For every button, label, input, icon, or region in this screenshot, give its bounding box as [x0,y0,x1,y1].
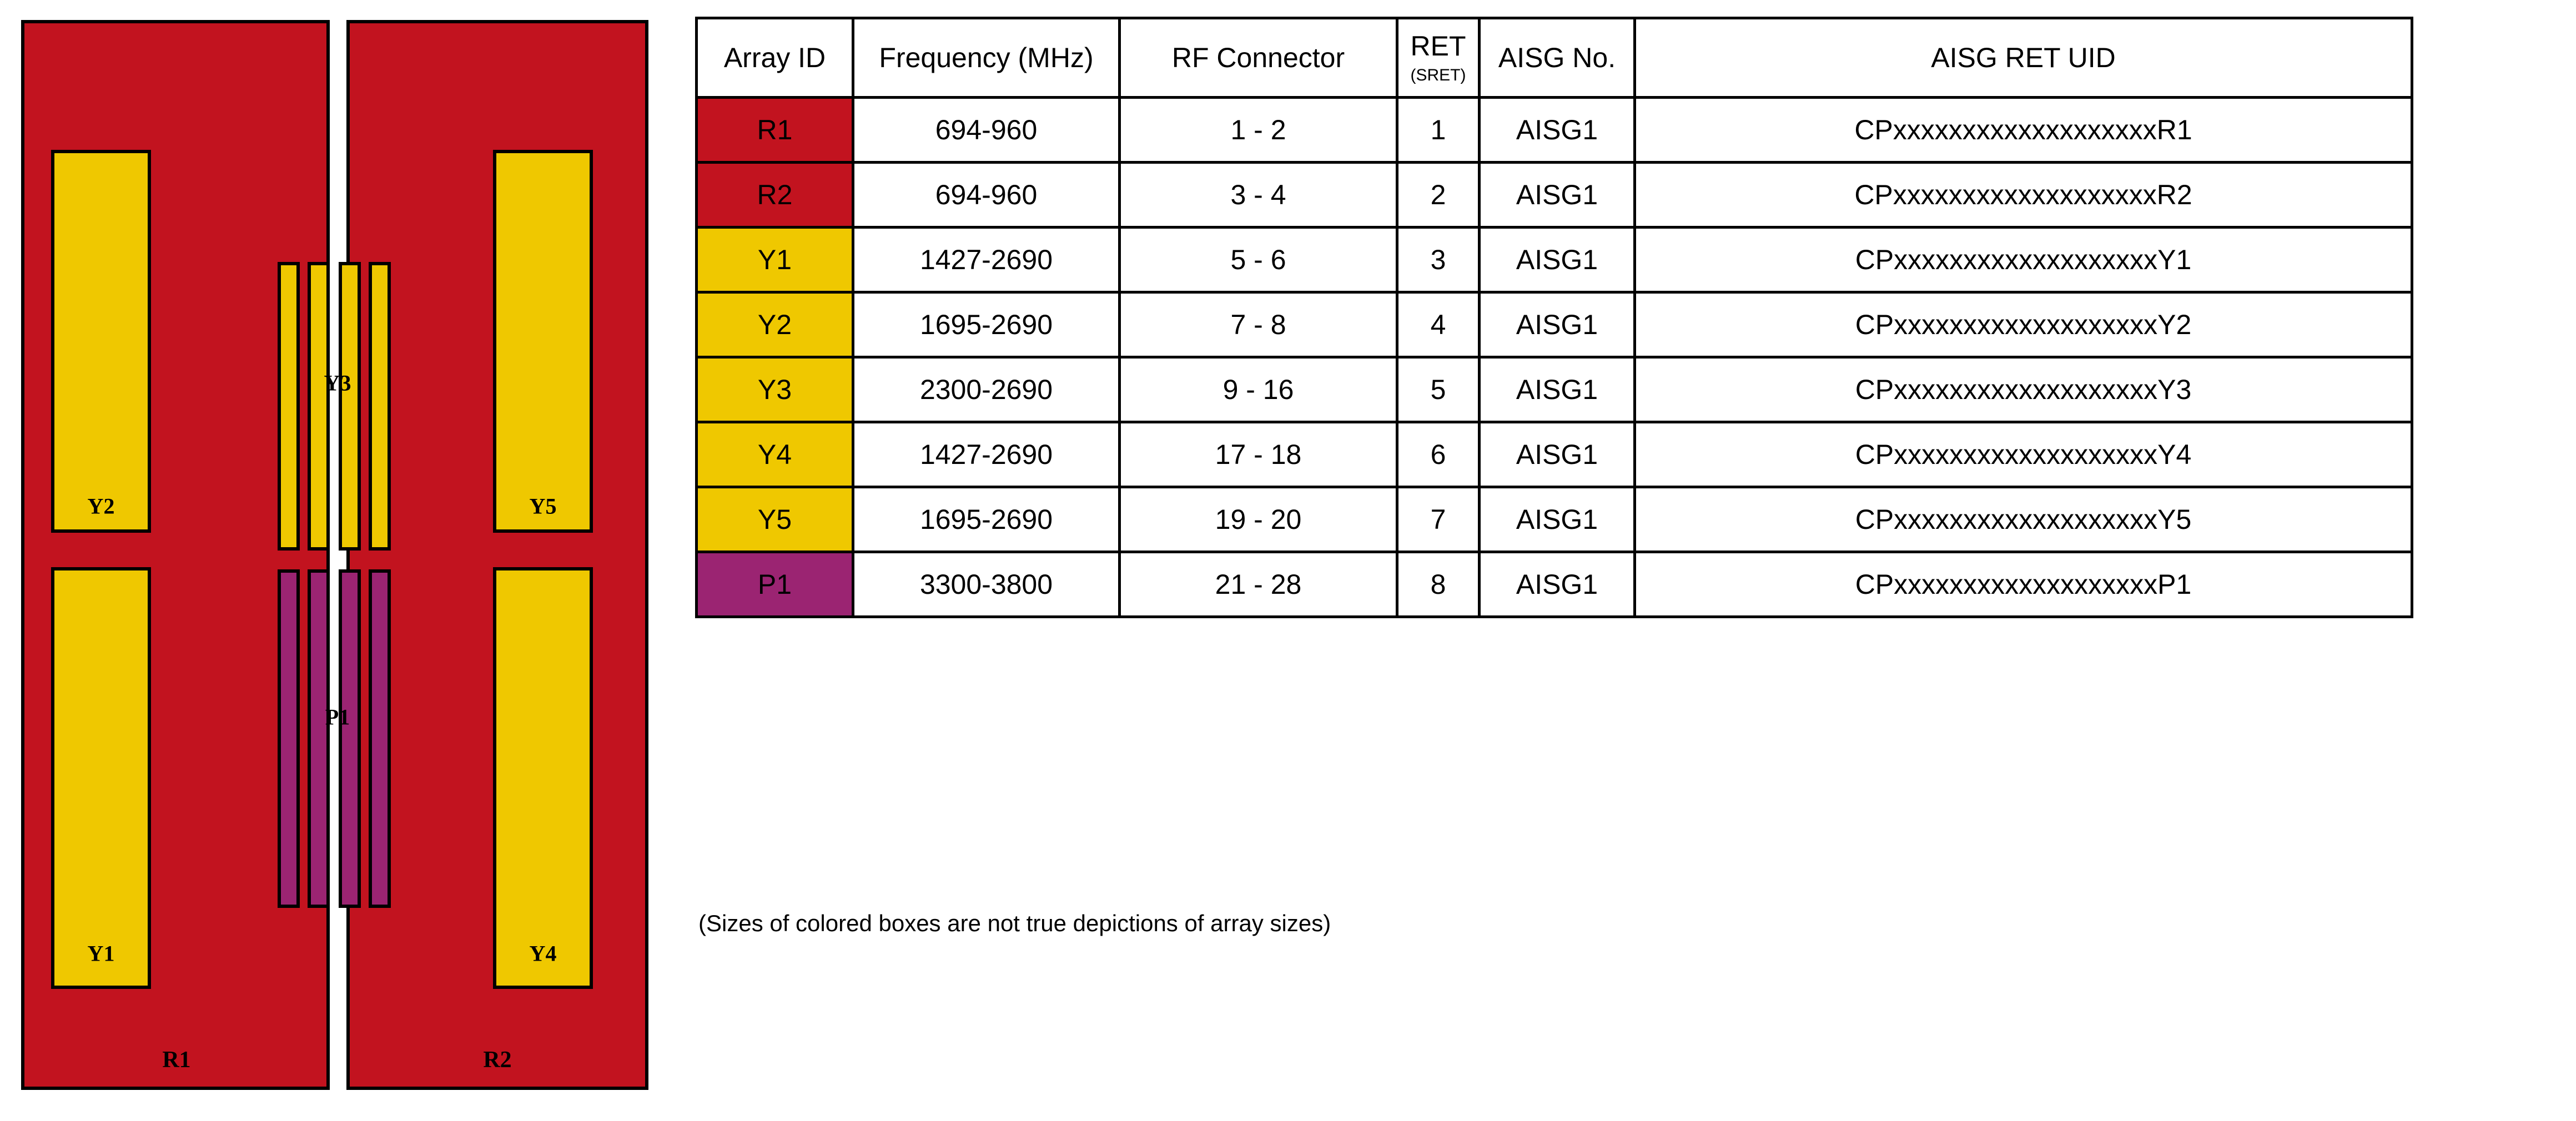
cell-rf-connector: 17 - 18 [1120,422,1397,487]
cell-aisg-ret-uid: CPxxxxxxxxxxxxxxxxxxxP1 [1635,552,2412,617]
cell-array-id: R2 [697,163,853,228]
array-label-y5: Y5 [530,493,557,519]
array-strip-p1-1 [278,569,300,908]
array-box-y2 [51,150,151,533]
cell-rf-connector: 5 - 6 [1120,228,1397,292]
array-strip-y3-3 [339,262,361,551]
array-strip-y3-4 [369,262,391,551]
cell-aisg-ret-uid: CPxxxxxxxxxxxxxxxxxxxY2 [1635,292,2412,357]
column-header-aisg-ret-uid: AISG RET UID [1635,18,2412,98]
table-row: Y32300-26909 - 165AISG1CPxxxxxxxxxxxxxxx… [697,357,2412,422]
column-header-ret: RET (SRET) [1397,18,1480,98]
cell-frequency: 1427-2690 [853,228,1120,292]
cell-aisg-ret-uid: CPxxxxxxxxxxxxxxxxxxxY1 [1635,228,2412,292]
cell-rf-connector: 9 - 16 [1120,357,1397,422]
array-label-y4: Y4 [530,941,557,967]
cell-array-id: Y5 [697,487,853,552]
array-strip-p1-3 [339,569,361,908]
cell-frequency: 1427-2690 [853,422,1120,487]
array-strip-y3-2 [308,262,330,551]
array-label-y2: Y2 [88,493,115,519]
cell-aisg-ret-uid: CPxxxxxxxxxxxxxxxxxxxR1 [1635,98,2412,163]
cell-ret: 5 [1397,357,1480,422]
cell-aisg-no: AISG1 [1480,552,1635,617]
cell-aisg-no: AISG1 [1480,357,1635,422]
cell-rf-connector: 1 - 2 [1120,98,1397,163]
column-header-aisg-no: AISG No. [1480,18,1635,98]
column-header-array-id: Array ID [697,18,853,98]
cell-rf-connector: 19 - 20 [1120,487,1397,552]
cell-frequency: 694-960 [853,98,1120,163]
cell-aisg-no: AISG1 [1480,228,1635,292]
cell-aisg-ret-uid: CPxxxxxxxxxxxxxxxxxxxY4 [1635,422,2412,487]
cell-frequency: 3300-3800 [853,552,1120,617]
array-box-y5 [493,150,593,533]
cell-aisg-no: AISG1 [1480,422,1635,487]
cell-array-id: P1 [697,552,853,617]
panel-label-r1: R1 [162,1047,190,1073]
cell-frequency: 1695-2690 [853,292,1120,357]
table-row: R1694-9601 - 21AISG1CPxxxxxxxxxxxxxxxxxx… [697,98,2412,163]
ret-header-sub: (SRET) [1398,67,1478,84]
table-body: R1694-9601 - 21AISG1CPxxxxxxxxxxxxxxxxxx… [697,98,2412,617]
panel-label-r2: R2 [483,1047,511,1073]
column-header-rf-connector: RF Connector [1120,18,1397,98]
cell-frequency: 694-960 [853,163,1120,228]
table-row: Y41427-269017 - 186AISG1CPxxxxxxxxxxxxxx… [697,422,2412,487]
cell-aisg-no: AISG1 [1480,487,1635,552]
array-label-p1: P1 [325,704,350,730]
cell-array-id: R1 [697,98,853,163]
table-row: Y11427-26905 - 63AISG1CPxxxxxxxxxxxxxxxx… [697,228,2412,292]
cell-frequency: 2300-2690 [853,357,1120,422]
column-header-frequency: Frequency (MHz) [853,18,1120,98]
ret-header-main: RET [1398,32,1478,61]
cell-ret: 2 [1397,163,1480,228]
array-strip-y3-1 [278,262,300,551]
array-label-y3: Y3 [324,370,351,396]
diagram-footnote: (Sizes of colored boxes are not true dep… [698,910,1331,937]
array-strip-p1-4 [369,569,391,908]
cell-array-id: Y4 [697,422,853,487]
cell-array-id: Y3 [697,357,853,422]
cell-aisg-ret-uid: CPxxxxxxxxxxxxxxxxxxxY5 [1635,487,2412,552]
cell-aisg-no: AISG1 [1480,163,1635,228]
cell-frequency: 1695-2690 [853,487,1120,552]
cell-ret: 6 [1397,422,1480,487]
array-spec-table: Array ID Frequency (MHz) RF Connector RE… [695,17,2413,618]
cell-ret: 1 [1397,98,1480,163]
cell-aisg-no: AISG1 [1480,292,1635,357]
cell-rf-connector: 7 - 8 [1120,292,1397,357]
cell-array-id: Y2 [697,292,853,357]
array-spec-table-container: Array ID Frequency (MHz) RF Connector RE… [695,17,2411,618]
table-row: P13300-380021 - 288AISG1CPxxxxxxxxxxxxxx… [697,552,2412,617]
cell-aisg-ret-uid: CPxxxxxxxxxxxxxxxxxxxR2 [1635,163,2412,228]
cell-ret: 7 [1397,487,1480,552]
array-box-y1 [51,567,151,989]
array-label-y1: Y1 [88,941,115,967]
table-row: Y51695-269019 - 207AISG1CPxxxxxxxxxxxxxx… [697,487,2412,552]
cell-ret: 8 [1397,552,1480,617]
array-strip-p1-2 [308,569,330,908]
table-header-row: Array ID Frequency (MHz) RF Connector RE… [697,18,2412,98]
cell-aisg-ret-uid: CPxxxxxxxxxxxxxxxxxxxY3 [1635,357,2412,422]
array-box-y4 [493,567,593,989]
cell-rf-connector: 21 - 28 [1120,552,1397,617]
cell-aisg-no: AISG1 [1480,98,1635,163]
cell-ret: 3 [1397,228,1480,292]
table-row: Y21695-26907 - 84AISG1CPxxxxxxxxxxxxxxxx… [697,292,2412,357]
cell-rf-connector: 3 - 4 [1120,163,1397,228]
table-row: R2694-9603 - 42AISG1CPxxxxxxxxxxxxxxxxxx… [697,163,2412,228]
cell-ret: 4 [1397,292,1480,357]
antenna-array-diagram: Y2 Y1 Y5 Y4 Y3 P1 R1 R2 [0,0,677,1121]
cell-array-id: Y1 [697,228,853,292]
